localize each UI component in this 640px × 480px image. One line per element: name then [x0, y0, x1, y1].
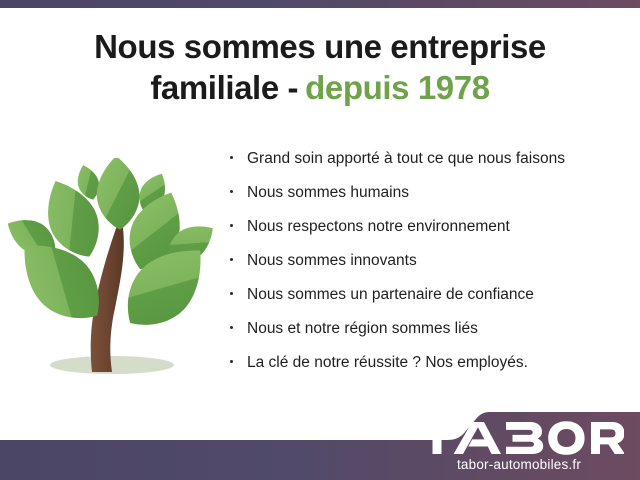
list-item-label: Nous respectons notre environnement [247, 218, 510, 235]
headline-line-2: familiale -depuis 1978 [0, 67, 640, 108]
headline-line-1: Nous sommes une entreprise [0, 26, 640, 67]
brand-website-url: tabor-automobiles.fr [414, 457, 624, 472]
brand-lockup: tabor-automobiles.fr [414, 420, 624, 472]
bullet-dot-icon [230, 224, 233, 227]
slide-canvas: Nous sommes une entreprise familiale -de… [0, 0, 640, 480]
page-title: Nous sommes une entreprise familiale -de… [0, 26, 640, 108]
benefits-list: Grand soin apporté à tout ce que nous fa… [228, 148, 628, 386]
list-item-label: Nous et notre région sommes liés [247, 320, 478, 337]
bullet-dot-icon [230, 326, 233, 329]
list-item: Nous respectons notre environnement [228, 216, 628, 237]
headline-accent-year: depuis 1978 [305, 69, 490, 106]
list-item: La clé de notre réussite ? Nos employés. [228, 352, 628, 373]
list-item: Nous sommes innovants [228, 250, 628, 271]
tree-shadow [50, 356, 174, 374]
bullet-dot-icon [230, 156, 233, 159]
list-item-label: Nous sommes un partenaire de confiance [247, 286, 534, 303]
list-item-label: Nous sommes humains [247, 184, 409, 201]
list-item: Nous sommes un partenaire de confiance [228, 284, 628, 305]
bullet-dot-icon [230, 190, 233, 193]
headline-line-2-plain: familiale - [150, 69, 298, 106]
brand-wordmark [414, 420, 624, 456]
list-item: Grand soin apporté à tout ce que nous fa… [228, 148, 628, 169]
list-item-label: La clé de notre réussite ? Nos employés. [247, 354, 528, 371]
bullet-dot-icon [230, 258, 233, 261]
list-item: Nous sommes humains [228, 182, 628, 203]
list-item-label: Grand soin apporté à tout ce que nous fa… [247, 150, 565, 167]
bullet-dot-icon [230, 292, 233, 295]
list-item-label: Nous sommes innovants [247, 252, 417, 269]
tree-illustration [8, 158, 218, 386]
bullet-dot-icon [230, 360, 233, 363]
top-accent-bar [0, 0, 640, 8]
brand-banner: tabor-automobiles.fr [0, 400, 640, 480]
list-item: Nous et notre région sommes liés [228, 318, 628, 339]
